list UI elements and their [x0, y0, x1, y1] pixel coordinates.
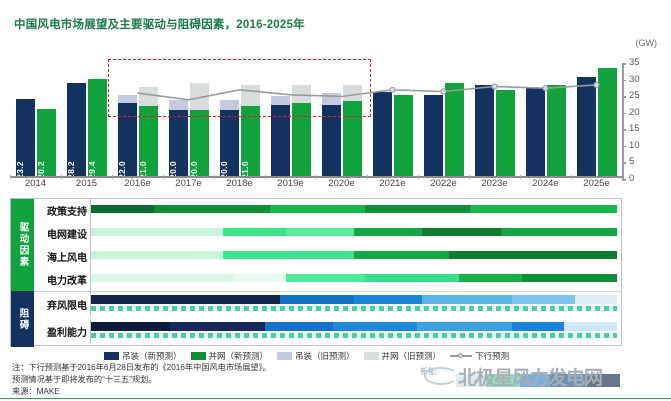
intensity-segment — [365, 205, 470, 213]
intensity-segment — [417, 322, 512, 331]
downside-forecast-line — [10, 58, 622, 178]
page-title: 中国风电市场展望及主要驱动与阻碍因素，2016-2025年 — [14, 16, 305, 32]
intensity-segment — [233, 274, 286, 282]
y-tick-label: 35 — [629, 57, 640, 68]
factor-intensity-bar — [91, 228, 617, 236]
factor-intensity-bar — [91, 295, 617, 304]
intensity-segment — [286, 274, 365, 282]
intensity-segment — [286, 228, 354, 236]
legend-item[interactable]: 吊装（新预测） — [104, 350, 182, 362]
legend-label: 吊装（新预测） — [122, 350, 182, 362]
footnote-source: 来源：MAKE — [12, 386, 271, 398]
watermark-bars — [456, 374, 620, 387]
factor-intensity-bar — [91, 251, 617, 259]
factor-row-label: 电力改革 — [34, 268, 90, 291]
bottom-rule — [0, 398, 671, 400]
x-tick-mark — [10, 175, 11, 179]
watermark-small-text: 新能 — [420, 366, 436, 377]
factor-row-label: 盈利能力 — [34, 319, 90, 343]
legend-label: 并网（新预测） — [209, 350, 269, 362]
chart-plot-area: 23.220.228.229.422.021.020.020.020.021.0 — [10, 58, 622, 178]
dashed-marker-row — [91, 333, 617, 338]
blockers-side-label: 阻碍 — [11, 291, 34, 347]
x-tick-label: 2015 — [76, 178, 97, 189]
y-axis: 05101520253035 — [622, 58, 668, 180]
x-tick-mark — [163, 175, 164, 179]
intensity-segment — [91, 228, 223, 236]
dashed-marker-row — [91, 306, 617, 311]
y-tick-label: 30 — [629, 74, 640, 85]
legend-label: 并网（旧预测） — [382, 350, 442, 362]
legend-item[interactable]: 下行预测 — [450, 350, 509, 362]
y-axis-tick: 15 — [622, 129, 668, 130]
x-axis-labels: 201420152016e2017e2018e2019e2020e2021e20… — [10, 178, 622, 192]
x-tick-mark — [265, 175, 266, 179]
legend-label: 吊装（旧预测） — [295, 350, 355, 362]
y-tick-label: 10 — [629, 140, 640, 151]
drivers-side-label-text: 驱动因素 — [16, 222, 30, 268]
x-tick-mark — [367, 175, 368, 179]
x-tick-mark — [112, 175, 113, 179]
intensity-segment — [223, 228, 286, 236]
intensity-segment — [333, 322, 417, 331]
line-swatch-icon — [450, 352, 472, 360]
y-tick-label: 15 — [629, 123, 640, 134]
intensity-segment — [449, 251, 617, 259]
intensity-segment — [470, 205, 617, 213]
cloud-icon — [424, 367, 458, 385]
intensity-segment — [512, 322, 565, 331]
watermark-text: 北极星风力发电网 — [458, 363, 602, 390]
x-tick-mark — [61, 175, 62, 179]
x-tick-mark — [418, 175, 419, 179]
factor-row-label: 弃风限电 — [34, 292, 90, 316]
intensity-segment — [91, 322, 170, 331]
factor-row-label: 政策支持 — [34, 199, 90, 222]
factor-row-label: 海上风电 — [34, 245, 90, 268]
intensity-segment — [354, 228, 422, 236]
intensity-segment — [512, 295, 575, 304]
x-tick-mark — [316, 175, 317, 179]
factor-intensity-bar — [91, 274, 617, 282]
x-tick-mark — [214, 175, 215, 179]
intensity-segment — [91, 295, 280, 304]
intensity-segment — [501, 228, 617, 236]
x-tick-mark — [571, 175, 572, 179]
factors-panel: 驱动因素 阻碍 政策支持电网建设海上风电电力改革弃风限电盈利能力 — [10, 198, 622, 346]
panel-divider — [34, 291, 621, 292]
y-tick-label: 20 — [629, 107, 640, 118]
intensity-segment — [223, 251, 286, 259]
x-tick-label: 2021e — [379, 178, 405, 189]
intensity-segment — [91, 251, 223, 259]
x-tick-label: 2016e — [124, 178, 150, 189]
color-swatch-icon — [104, 352, 119, 360]
intensity-segment — [365, 274, 460, 282]
intensity-segment — [265, 322, 333, 331]
x-tick-label: 2019e — [277, 178, 303, 189]
intensity-segment — [522, 274, 617, 282]
intensity-segment — [270, 205, 365, 213]
factor-intensity-bar — [91, 205, 617, 213]
factor-row-label: 电网建设 — [34, 222, 90, 245]
intensity-segment — [422, 295, 511, 304]
intensity-segment — [280, 295, 354, 304]
intensity-segment — [422, 228, 501, 236]
y-axis-tick: 10 — [622, 146, 668, 147]
drivers-side-label: 驱动因素 — [11, 199, 34, 291]
y-tick-label: 25 — [629, 90, 640, 101]
intensity-segment — [354, 295, 422, 304]
x-tick-mark — [520, 175, 521, 179]
legend-item[interactable]: 吊装（旧预测） — [277, 350, 355, 362]
legend-item[interactable]: 并网（旧预测） — [364, 350, 442, 362]
x-tick-label: 2024e — [532, 178, 558, 189]
y-tick-label: 0 — [629, 173, 634, 184]
x-tick-label: 2022e — [430, 178, 456, 189]
y-axis-tick: 5 — [622, 162, 668, 163]
intensity-segment — [91, 274, 233, 282]
x-tick-label: 2018e — [226, 178, 252, 189]
chart-page: 中国风电市场展望及主要驱动与阻碍因素，2016-2025年 (GW) 23.22… — [0, 0, 671, 401]
x-tick-label: 2020e — [328, 178, 354, 189]
intensity-segment — [91, 205, 154, 213]
intensity-segment — [286, 251, 354, 259]
intensity-segment — [575, 295, 617, 304]
x-tick-label: 2017e — [175, 178, 201, 189]
footnote-line-1: 注：下行预测基于2016年6月28日发布的《2016年中国风电市场展望》。 — [12, 362, 271, 374]
intensity-segment — [354, 251, 449, 259]
y-axis-tick: 0 — [622, 179, 668, 180]
intensity-segment — [170, 322, 265, 331]
y-tick-label: 5 — [629, 156, 634, 167]
blockers-side-label-text: 阻碍 — [16, 308, 30, 331]
y-axis-unit-label: (GW) — [636, 38, 658, 48]
x-tick-label: 2023e — [481, 178, 507, 189]
color-swatch-icon — [277, 352, 292, 360]
footnote-line-2: 预测情况基于即将发布的“十三五”规划。 — [12, 374, 271, 386]
footnotes: 注：下行预测基于2016年6月28日发布的《2016年中国风电市场展望》。 预测… — [12, 362, 271, 398]
color-swatch-icon — [191, 352, 206, 360]
factor-intensity-bar — [91, 322, 617, 331]
y-axis-tick: 20 — [622, 113, 668, 114]
intensity-segment — [564, 322, 617, 331]
y-axis-tick: 30 — [622, 80, 668, 81]
legend-item[interactable]: 并网（新预测） — [191, 350, 269, 362]
x-tick-label: 2025e — [583, 178, 609, 189]
y-axis-tick: 35 — [622, 63, 668, 64]
intensity-segment — [459, 274, 522, 282]
color-swatch-icon — [364, 352, 379, 360]
watermark: 新能 北极星风力发电网 — [418, 362, 658, 392]
legend-label: 下行预测 — [475, 350, 509, 362]
x-tick-label: 2014 — [25, 178, 46, 189]
chart-legend: 吊装（新预测）并网（新预测）吊装（旧预测）并网（旧预测）下行预测 — [104, 350, 624, 362]
y-axis-tick: 25 — [622, 96, 668, 97]
x-tick-mark — [469, 175, 470, 179]
intensity-segment — [154, 205, 270, 213]
